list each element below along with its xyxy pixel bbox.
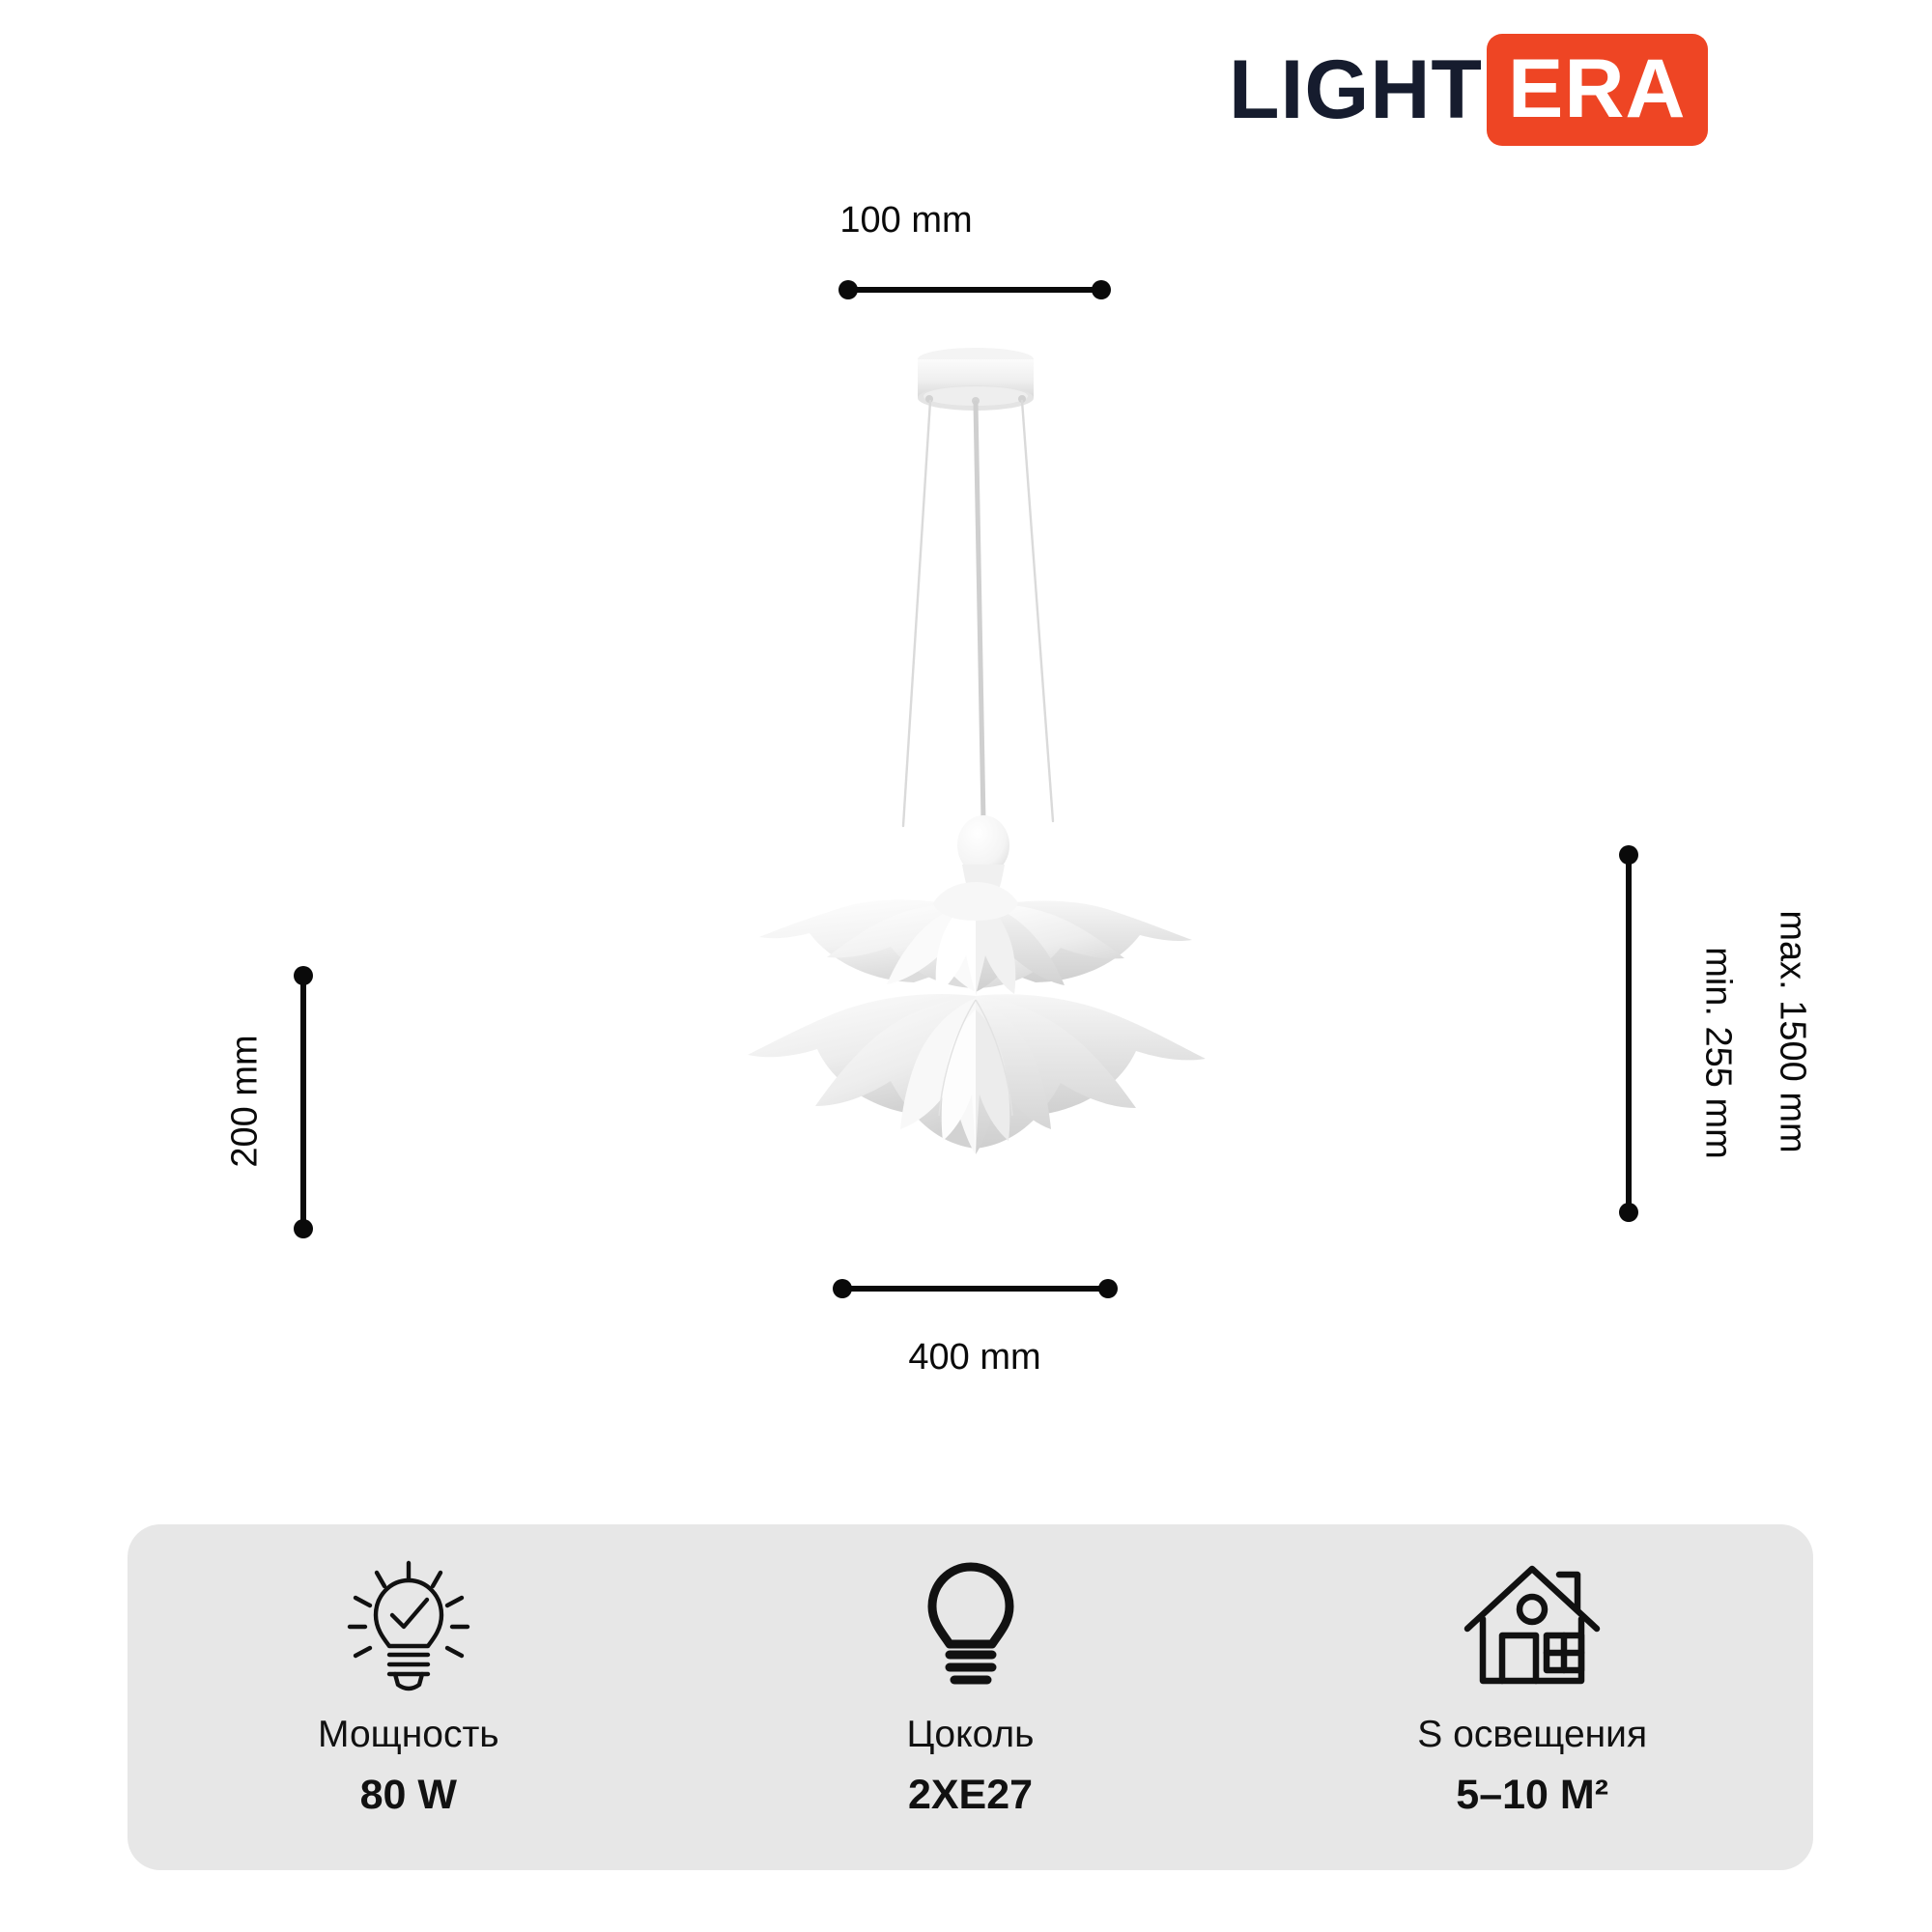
dimension-line-top-width (848, 287, 1101, 293)
dimension-endpoint-dot (1098, 1279, 1118, 1298)
spec-title-power: Мощность (318, 1714, 499, 1756)
suspension-cables (903, 401, 1053, 826)
bulb-check-icon (342, 1559, 475, 1696)
logo-text-era: ERA (1508, 47, 1687, 130)
spec-value-lighting-area: 5–10 M² (1456, 1772, 1608, 1819)
dimension-endpoint-dot (838, 280, 858, 299)
logo-badge-era: ERA (1487, 34, 1708, 146)
spec-title-lighting-area: S освещения (1417, 1714, 1647, 1756)
dimension-line-shade-height (300, 976, 306, 1227)
lamp-shade-upper-petals (759, 882, 1192, 996)
dimension-endpoint-dot (1619, 845, 1638, 865)
spec-value-power: 80 W (360, 1772, 457, 1819)
dimension-endpoint-dot (1092, 280, 1111, 299)
dimension-label-suspension-min: min. 255 mm (1697, 947, 1739, 1159)
spec-title-socket: Цоколь (907, 1714, 1035, 1756)
house-icon (1460, 1559, 1605, 1696)
bulb-icon (918, 1559, 1024, 1696)
dimension-label-top-width: 100 mm (839, 200, 972, 241)
dimension-line-overall-width (842, 1286, 1108, 1292)
spec-column-lighting-area: S освещения 5–10 M² (1251, 1524, 1813, 1870)
spec-column-socket: Цоколь 2XE27 (690, 1524, 1252, 1870)
dimension-endpoint-dot (294, 1219, 313, 1238)
brand-logo: LIGHT ERA (1229, 37, 1708, 143)
spec-column-power: Мощность 80 W (128, 1524, 690, 1870)
pendant-lamp-illustration (734, 343, 1217, 1256)
dimension-line-suspension (1626, 855, 1632, 1212)
dimension-label-overall-width: 400 mm (908, 1337, 1040, 1378)
dimension-endpoint-dot (294, 966, 313, 985)
dimension-endpoint-dot (833, 1279, 852, 1298)
spec-value-socket: 2XE27 (908, 1772, 1033, 1819)
product-spec-sheet: LIGHT ERA 100 mm (0, 0, 1932, 1932)
dimension-endpoint-dot (1619, 1203, 1638, 1222)
lamp-shade-lower-petals (748, 994, 1206, 1156)
dimension-label-suspension-max: max. 1500 mm (1772, 910, 1813, 1152)
logo-text-light: LIGHT (1229, 48, 1487, 131)
dimension-label-shade-height: 200 mm (225, 1035, 267, 1167)
specifications-panel: Мощность 80 W Цоколь 2XE27 (128, 1524, 1813, 1870)
